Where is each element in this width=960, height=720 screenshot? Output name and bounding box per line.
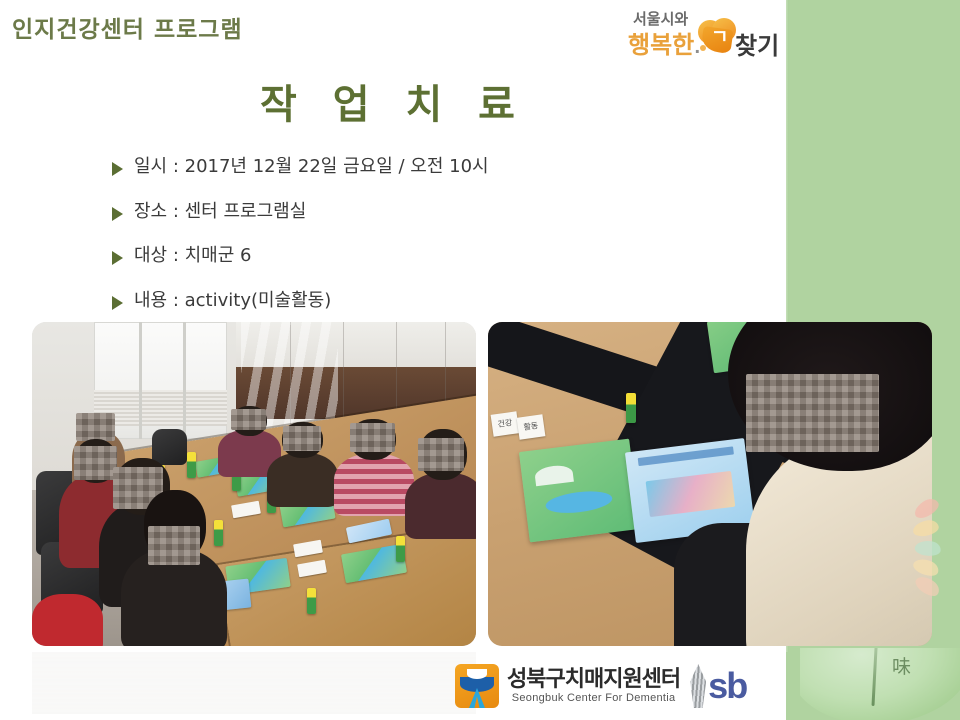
book-illustration-hill <box>534 464 574 487</box>
participant-body <box>405 473 476 539</box>
brand-happy-text: 행복한 <box>628 31 694 59</box>
face-pixelation <box>746 374 879 452</box>
face-pixelation <box>148 526 199 565</box>
book-sticker-strip <box>645 471 735 518</box>
glue-stick <box>626 393 636 423</box>
sb-logo: sb <box>690 664 746 708</box>
photo-group-activity <box>32 322 476 646</box>
participant-body <box>267 453 338 507</box>
face-pixelation <box>283 426 321 451</box>
glue-stick <box>307 588 316 614</box>
photo-closeup-activity: 건강 활동 <box>488 322 932 646</box>
participant <box>405 429 476 539</box>
bullet-text: 대상 : 치매군 6 <box>134 245 251 268</box>
bullet-text: 일시 : 2017년 12월 22일 금요일 / 오전 10시 <box>134 156 489 179</box>
program-label: 인지건강센터 프로그램 <box>12 10 243 44</box>
bullet-text: 내용 : activity(미술활동) <box>134 290 331 313</box>
seongbuk-mark-icon <box>455 664 499 708</box>
participant-body <box>32 594 103 646</box>
activity-book-left-page <box>518 439 639 543</box>
mark-wing <box>467 669 487 679</box>
triangle-bullet-icon <box>112 296 123 310</box>
word-card: 건강 <box>491 411 520 436</box>
face-pixelation <box>418 438 464 471</box>
footer-logo-korean: 성북구치매지원센터 <box>507 668 680 691</box>
list-item: 일시 : 2017년 12월 22일 금요일 / 오전 10시 <box>112 156 712 179</box>
petal-icon <box>912 519 940 538</box>
face-pixelation <box>350 423 395 452</box>
glue-stick <box>396 536 405 562</box>
window-mullion <box>139 322 142 439</box>
heart-icon: ㄱ <box>698 18 738 54</box>
triangle-bullet-icon <box>112 251 123 265</box>
window-mullion <box>183 322 186 439</box>
face-pixelation <box>76 413 114 442</box>
participant <box>334 419 414 516</box>
list-item: 내용 : activity(미술활동) <box>112 290 712 313</box>
list-item: 대상 : 치매군 6 <box>112 245 712 268</box>
footer-logo-text: 성북구치매지원센터 Seongbuk Center For Dementia <box>507 668 680 703</box>
book-illustration-pond <box>544 488 613 516</box>
bullet-list: 일시 : 2017년 12월 22일 금요일 / 오전 10시 장소 : 센터 … <box>112 156 712 334</box>
photo-reflection-mirror <box>32 652 476 714</box>
list-item: 장소 : 센터 프로그램실 <box>112 201 712 224</box>
footer-logo-english: Seongbuk Center For Dementia <box>507 692 680 704</box>
petal-icon <box>914 539 942 557</box>
leaf-character: 味 <box>892 652 911 679</box>
glue-stick <box>187 452 196 478</box>
leaf-icon <box>800 648 960 720</box>
triangle-bullet-icon <box>112 162 123 176</box>
reflection-scene <box>32 652 476 714</box>
petal-icon <box>913 572 943 599</box>
photo-reflection <box>32 652 476 714</box>
petal-decoration <box>913 505 959 605</box>
participant-red-coat <box>32 594 103 646</box>
book-page-header <box>638 447 734 466</box>
heart-glyph: ㄱ <box>711 22 728 49</box>
photo-left-scene <box>32 322 476 646</box>
reflection-wall <box>32 652 476 714</box>
petal-icon <box>911 556 941 580</box>
feather-icon <box>690 664 706 708</box>
seoul-happy-brand-logo: 서울시와 행복한. ㄱ 찾기 <box>625 8 785 58</box>
brand-line3-text: 찾기 <box>735 26 779 61</box>
photo-right-scene: 건강 활동 <box>488 322 932 646</box>
face-pixelation <box>231 409 266 430</box>
footer-logo: 성북구치매지원센터 Seongbuk Center For Dementia s… <box>455 660 746 712</box>
participant <box>267 422 338 506</box>
triangle-bullet-icon <box>112 207 123 221</box>
page-title: 작 업 치 료 <box>0 72 786 130</box>
slide-canvas: 인지건강센터 프로그램 서울시와 행복한. ㄱ 찾기 작 업 치 료 일시 : … <box>0 0 960 720</box>
participant <box>121 490 228 646</box>
sb-logo-text: sb <box>708 668 746 704</box>
participant-body-striped <box>334 454 414 516</box>
heart-dot <box>700 45 706 51</box>
leaf-decoration: 味 <box>800 648 960 720</box>
word-card: 활동 <box>517 414 546 439</box>
bullet-text: 장소 : 센터 프로그램실 <box>134 201 306 224</box>
brand-line2-text: 행복한. <box>628 25 700 60</box>
